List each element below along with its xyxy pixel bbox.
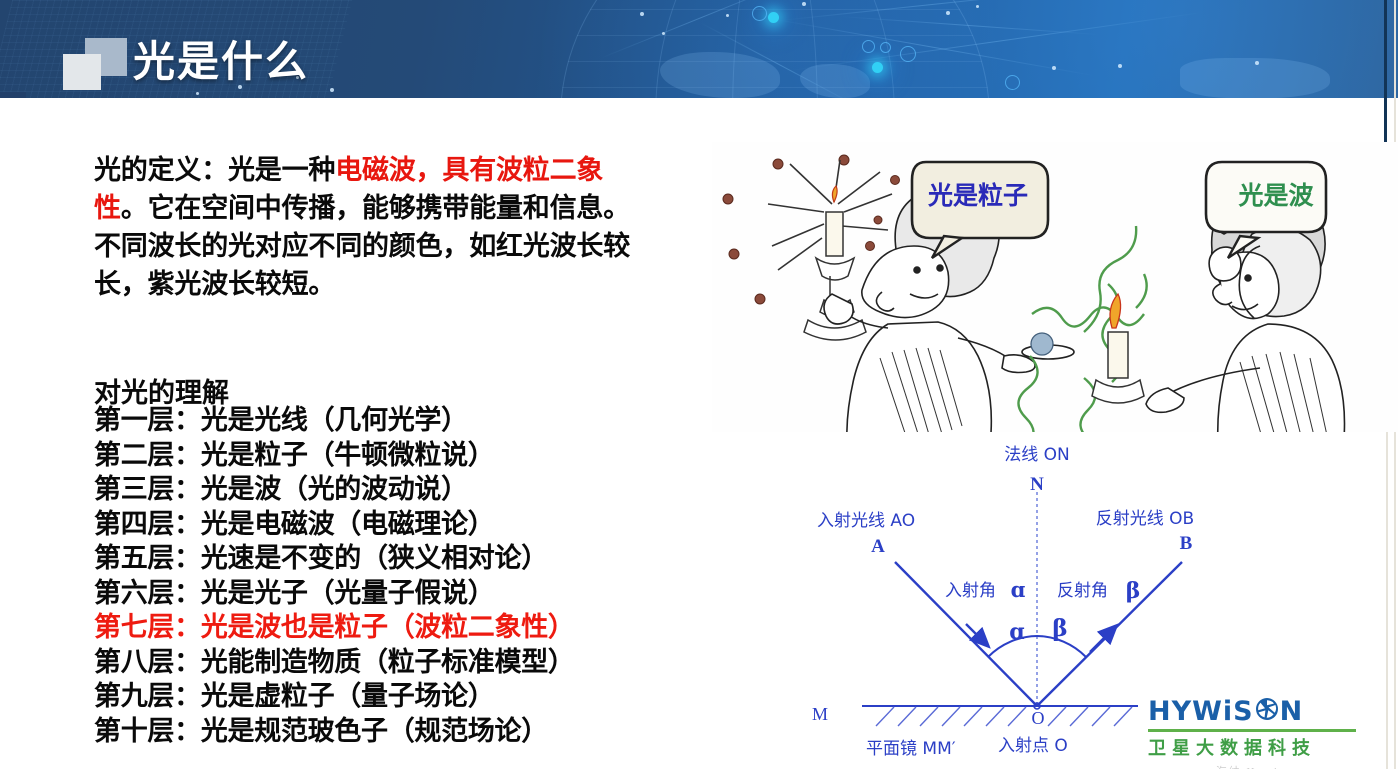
normal-label: 法线 ON bbox=[1004, 445, 1070, 465]
reflected-angle-label: 反射角 bbox=[1057, 581, 1108, 601]
header-star-dot bbox=[1118, 64, 1122, 68]
reflected-angle-symbol: β bbox=[1126, 578, 1141, 604]
list-item: 第五层：光速是不变的（狭义相对论） bbox=[94, 542, 654, 577]
definition-paragraph: 光的定义：光是一种电磁波，具有波粒二象性。它在空间中传播，能够携带能量和信息。不… bbox=[94, 152, 634, 304]
aperture-icon bbox=[1255, 697, 1279, 726]
incident-ray-label: 入射光线 AO bbox=[817, 511, 915, 531]
incident-angle-label: 入射角 bbox=[945, 581, 996, 601]
list-item: 第九层：光是虚粒子（量子场论） bbox=[94, 680, 654, 715]
header-star-dot bbox=[196, 92, 199, 95]
bubble-right-text: 光是波 bbox=[1237, 181, 1314, 210]
header-star-dot bbox=[1052, 66, 1056, 70]
list-item: 第四层：光是电磁波（电磁理论） bbox=[94, 508, 654, 543]
company-logo: HYWiS N 卫星大数据科技 海纳 Hywison bbox=[1148, 697, 1368, 769]
header-node-ring bbox=[880, 42, 891, 53]
list-item: 第三层：光是波（光的波动说） bbox=[94, 473, 654, 508]
logo-tagline: 海纳 Hywison bbox=[1148, 763, 1368, 769]
incident-point-label-a: A bbox=[871, 536, 885, 557]
mirror-hatching bbox=[876, 707, 1132, 726]
reflected-point-label-b: B bbox=[1180, 533, 1193, 554]
header-star-dot bbox=[976, 5, 979, 8]
alpha-arc-label: ɑ bbox=[1009, 619, 1024, 645]
header-left-tab bbox=[0, 92, 26, 98]
origin-label: O bbox=[1032, 708, 1045, 728]
cartoon-illustration: 光是粒子 光是波 bbox=[712, 142, 1398, 432]
header-star-dot bbox=[726, 14, 729, 17]
bubble-left-text: 光是粒子 bbox=[927, 181, 1028, 210]
list-item: 第六层：光是光子（光量子假说） bbox=[94, 577, 654, 612]
definition-lead: 光的定义：光是一种 bbox=[94, 155, 335, 186]
mirror-label: 平面镜 MM′ bbox=[866, 739, 956, 759]
header-star-dot bbox=[640, 12, 644, 16]
header-star-dot bbox=[662, 32, 665, 35]
square-front-icon bbox=[63, 54, 101, 90]
particle-ball bbox=[1031, 333, 1053, 355]
reflected-ray-arrow bbox=[1090, 630, 1112, 652]
slide-root: 光是什么 光的定义：光是一种电磁波，具有波粒二象性。它在空间中传播，能够携带能量… bbox=[0, 0, 1398, 769]
header-star-dot bbox=[1255, 61, 1259, 65]
header-node-ring bbox=[900, 46, 916, 62]
list-item: 第二层：光是粒子（牛顿微粒说） bbox=[94, 439, 654, 474]
logo-divider bbox=[1148, 729, 1356, 732]
header-star-dot bbox=[330, 88, 334, 92]
logo-wordmark: HYWiS N bbox=[1148, 697, 1368, 726]
cartoon-svg: 光是粒子 光是波 bbox=[712, 142, 1398, 432]
layer-list: 第一层：光是光线（几何光学） 第二层：光是粒子（牛顿微粒说） 第三层：光是波（光… bbox=[94, 404, 654, 749]
header-star-dot bbox=[802, 2, 806, 6]
reflected-ray-label: 反射光线 OB bbox=[1096, 509, 1194, 529]
list-item: 第八层：光能制造物质（粒子标准模型） bbox=[94, 646, 654, 681]
header-glow-node bbox=[768, 12, 779, 23]
list-item: 第一层：光是光线（几何光学） bbox=[94, 404, 654, 439]
list-item: 第十层：光是规范玻色子（规范场论） bbox=[94, 715, 654, 750]
definition-block: 光的定义：光是一种电磁波，具有波粒二象性。它在空间中传播，能够携带能量和信息。不… bbox=[94, 152, 634, 304]
header-glow-node bbox=[872, 62, 883, 73]
beta-arc-label: β bbox=[1052, 615, 1067, 642]
normal-point-label: N bbox=[1030, 474, 1044, 495]
logo-brand-part2: N bbox=[1280, 698, 1304, 725]
incident-ray-arrow bbox=[966, 624, 984, 642]
incident-angle-symbol: ɑ bbox=[1011, 577, 1026, 602]
header-node-ring bbox=[752, 6, 767, 21]
logo-brand-part1: HYWiS bbox=[1148, 698, 1254, 725]
header-node-ring bbox=[862, 40, 875, 53]
mirror-left-label: M bbox=[812, 704, 828, 724]
page-title: 光是什么 bbox=[133, 28, 309, 89]
list-item-highlighted: 第七层：光是波也是粒子（波粒二象性） bbox=[94, 611, 654, 646]
definition-rest: 。它在空间中传播，能够携带能量和信息。不同波长的光对应不同的颜色，如红光波长较长… bbox=[94, 193, 630, 300]
slide-header: 光是什么 bbox=[0, 0, 1398, 98]
two-squares-icon bbox=[63, 38, 127, 90]
logo-subtitle: 卫星大数据科技 bbox=[1148, 734, 1368, 760]
incident-point-label: 入射点 O bbox=[998, 736, 1068, 756]
header-node-ring bbox=[1005, 75, 1020, 90]
header-star-dot bbox=[946, 11, 950, 15]
